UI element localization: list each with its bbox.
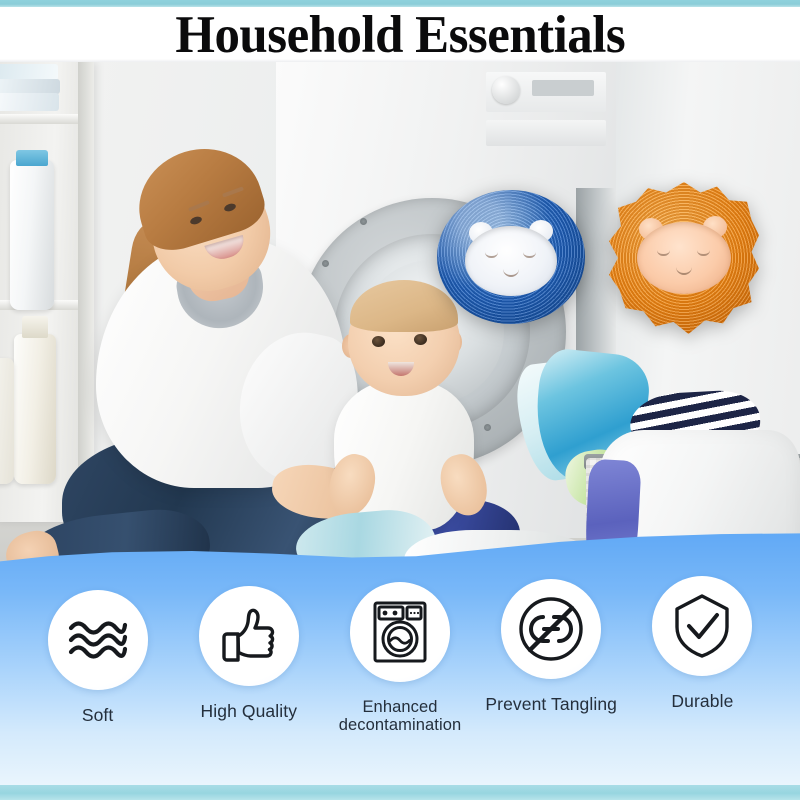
- bear-face: [637, 222, 731, 294]
- feature-item-soft: Soft: [22, 590, 173, 725]
- bear-nose: [503, 268, 519, 277]
- feature-icon-circle: [652, 576, 752, 676]
- door-screw: [322, 260, 329, 267]
- shield-check-icon: [673, 593, 731, 659]
- washer-display: [532, 80, 594, 96]
- baby-eye: [414, 334, 427, 345]
- feature-icon-circle: [199, 586, 299, 686]
- feature-list: Soft High Quality: [0, 585, 800, 745]
- shelving-unit: [0, 62, 94, 522]
- bear-eye: [523, 252, 536, 258]
- detergent-bottle-cap: [16, 150, 48, 166]
- product-orange-flower-ball: [609, 182, 759, 334]
- feature-icon-circle: [501, 579, 601, 679]
- feature-icon-circle: [48, 590, 148, 690]
- feature-item-prevent-tangling: Prevent Tangling: [476, 579, 627, 714]
- bottom-accent-strip: [0, 785, 800, 800]
- feature-label: High Quality: [201, 702, 298, 721]
- feature-item-durable: Durable: [627, 576, 778, 711]
- lifestyle-photo: [0, 62, 800, 578]
- detergent-bottle: [10, 160, 54, 310]
- feature-icon-circle: [350, 582, 450, 682]
- no-tangle-icon: [517, 595, 585, 663]
- page-title: Household Essentials: [175, 9, 625, 62]
- feature-item-enhanced-decontamination: Enhanced decontamination: [324, 582, 475, 734]
- feature-label: Enhanced decontamination: [339, 698, 462, 734]
- bear-eye: [697, 250, 710, 256]
- feature-label: Prevent Tangling: [485, 695, 617, 714]
- washing-machine-icon: [371, 600, 429, 664]
- bear-eye: [485, 252, 498, 258]
- bear-face: [465, 226, 557, 296]
- bear-nose: [676, 266, 692, 275]
- detergent-bottle-cap: [22, 316, 48, 338]
- washer-detergent-drawer: [486, 120, 606, 146]
- feature-label-line2: decontamination: [339, 716, 462, 734]
- washer-dial: [492, 76, 520, 104]
- waves-icon: [67, 617, 129, 663]
- baby-eye: [372, 336, 385, 347]
- folded-towel: [0, 64, 58, 80]
- door-screw: [360, 218, 367, 225]
- feature-label-line1: Enhanced: [362, 698, 437, 716]
- thumbs-up-icon: [219, 606, 279, 666]
- door-screw: [484, 424, 491, 431]
- bear-eye: [657, 250, 670, 256]
- feature-label: Durable: [671, 692, 733, 711]
- product-listing-image: Household Essentials: [0, 0, 800, 800]
- shelf-side-panel: [78, 62, 94, 522]
- detergent-bottle: [14, 334, 56, 484]
- detergent-bottle: [0, 358, 14, 484]
- product-blue-round-ball: [437, 190, 585, 324]
- folded-towel: [0, 79, 60, 94]
- feature-label: Soft: [82, 706, 114, 725]
- feature-item-high-quality: High Quality: [173, 586, 324, 721]
- title-band: Household Essentials: [0, 7, 800, 63]
- folded-towel: [0, 93, 59, 111]
